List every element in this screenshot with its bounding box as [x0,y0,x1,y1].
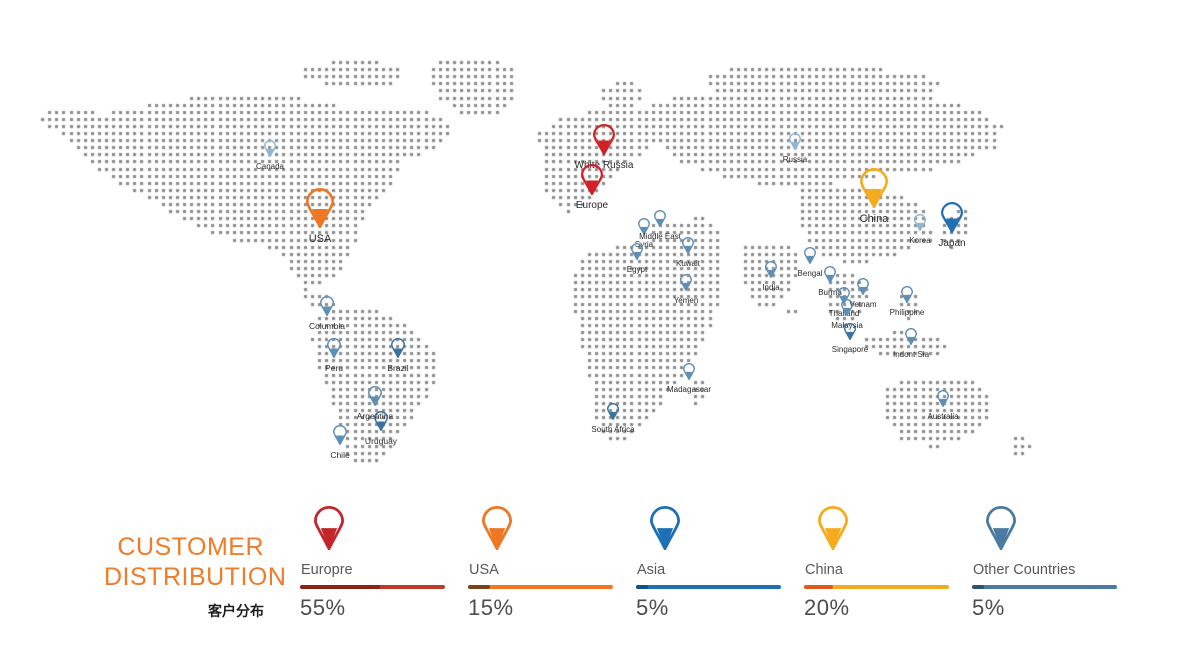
location-pin-icon [901,286,913,308]
page-title-line1: CUSTOMER [104,532,264,562]
location-pin-icon [941,202,963,238]
map-marker-peru[interactable]: Peru [327,338,341,363]
location-pin-icon [631,243,643,265]
map-marker-label: Yemen [674,297,699,305]
map-marker-label: South Africa [591,426,634,434]
infographic-root: CanadaUSAColumbiaPeruBrazilArgentinaUrug… [0,0,1180,663]
map-marker-label: Japan [938,239,965,249]
legend-item-percentage: 5% [636,595,801,621]
map-marker-label: Singapore [832,346,868,354]
map-marker-label: Russia [783,156,807,164]
map-marker-label: Uruguay [365,437,397,446]
world-dot-map-canvas [0,0,1180,500]
map-marker-chile[interactable]: Chile [333,425,347,450]
map-marker-label: Columbia [309,322,345,331]
legend-item-label: Europre [301,562,465,578]
location-pin-icon [607,403,619,425]
map-marker-label: China [860,214,889,225]
map-marker-korea[interactable]: Korea [914,214,926,236]
map-marker-columbia[interactable]: Columbia [320,296,334,321]
location-pin-icon [654,210,666,232]
map-marker-brazil[interactable]: Brazil [391,338,405,363]
legend-item-label: Other Countries [973,562,1137,578]
map-marker-label: Egypt [627,266,647,274]
location-pin-icon [841,299,853,321]
map-marker-burma[interactable]: Burma [824,266,836,288]
map-marker-label: Peru [325,364,343,373]
legend-item-percentage: 20% [804,595,969,621]
legend-item-bar [468,585,613,589]
map-marker-australia[interactable]: Australia [937,390,949,412]
location-pin-icon [804,506,969,558]
legend-item-bar-fill [300,585,380,589]
location-pin-icon [765,261,777,283]
page-title-line2: DISTRIBUTION [104,562,264,592]
location-pin-icon [789,133,801,155]
legend-item-label: USA [469,562,633,578]
map-marker-uruguay[interactable]: Uruguay [374,411,388,436]
legend-item-bar-fill [804,585,833,589]
location-pin-icon [468,506,633,558]
map-marker-bengal[interactable]: Bengal [804,247,816,269]
location-pin-icon [391,338,405,363]
legend-item-asia[interactable]: Asia5% [636,506,801,621]
legend-item-china[interactable]: China20% [804,506,969,621]
world-map: CanadaUSAColumbiaPeruBrazilArgentinaUrug… [0,0,1180,500]
map-marker-malaysia[interactable]: Malaysia [841,299,853,321]
map-marker-label: Kuwait [676,260,700,268]
legend-item-bar [972,585,1117,589]
location-pin-icon [368,386,382,411]
map-marker-white-russia[interactable]: White Russia [593,124,615,160]
map-marker-label: Bengal [798,270,823,278]
map-marker-philippine[interactable]: Philippine [901,286,913,308]
map-marker-yemen[interactable]: Yemen [680,274,692,296]
location-pin-icon [914,214,926,236]
legend-item-percentage: 55% [300,595,465,621]
map-marker-label: Middle East [639,233,681,241]
map-marker-russia[interactable]: Russia [789,133,801,155]
legend-item-bar [300,585,445,589]
map-marker-label: Australia [927,413,958,421]
location-pin-icon [636,506,801,558]
location-pin-icon [683,363,695,385]
legend-item-label: China [805,562,969,578]
map-marker-japan[interactable]: Japan [941,202,963,238]
map-marker-label: Madagascar [667,386,711,394]
map-marker-europe[interactable]: Europe [581,164,603,200]
map-marker-label: Indont Sia [893,351,929,359]
map-marker-singapore[interactable]: Singapore [844,323,856,345]
legend-item-europre[interactable]: Europre55% [300,506,465,621]
location-pin-icon [824,266,836,288]
map-marker-south-africa[interactable]: South Africa [607,403,619,425]
map-marker-label: Korea [909,237,930,245]
location-pin-icon [857,278,869,300]
location-pin-icon [374,411,388,436]
legend-panel: CUSTOMER DISTRIBUTION 客户分布 Europre55%USA… [0,500,1180,663]
location-pin-icon [264,140,276,162]
map-marker-label: Chile [330,451,349,460]
location-pin-icon [937,390,949,412]
location-pin-icon [581,164,603,200]
location-pin-icon [682,237,694,259]
map-marker-label: India [762,284,779,292]
location-pin-icon [680,274,692,296]
map-marker-kuwait[interactable]: Kuwait [682,237,694,259]
map-marker-label: Canada [256,163,284,171]
legend-item-percentage: 5% [972,595,1137,621]
location-pin-icon [860,168,888,213]
map-marker-vetnam[interactable]: Vetnam [857,278,869,300]
location-pin-icon [306,188,334,233]
legend-item-bar [804,585,949,589]
map-marker-india[interactable]: India [765,261,777,283]
location-pin-icon [905,328,917,350]
map-marker-madagascar[interactable]: Madagascar [683,363,695,385]
title-block: CUSTOMER DISTRIBUTION 客户分布 [104,532,264,621]
location-pin-icon [300,506,465,558]
legend-item-other-countries[interactable]: Other Countries5% [972,506,1137,621]
location-pin-icon [320,296,334,321]
map-marker-china[interactable]: China [860,168,888,213]
legend-item-bar [636,585,781,589]
location-pin-icon [972,506,1137,558]
location-pin-icon [327,338,341,363]
location-pin-icon [593,124,615,160]
map-marker-label: Brazil [387,364,408,373]
page-subtitle-chinese: 客户分布 [104,601,264,621]
legend-item-percentage: 15% [468,595,633,621]
location-pin-icon [804,247,816,269]
legend-item-bar-fill [636,585,648,589]
legend-item-bar-fill [972,585,984,589]
map-marker-label: Philippine [890,309,925,317]
map-marker-usa[interactable]: USA [306,188,334,233]
location-pin-icon [333,425,347,450]
map-marker-canada[interactable]: Canada [264,140,276,162]
map-marker-label: Europe [576,201,608,211]
legend-item-usa[interactable]: USA15% [468,506,633,621]
location-pin-icon [844,323,856,345]
legend-item-bar-fill [468,585,490,589]
map-marker-label: Vetnam [849,301,876,309]
legend-item-label: Asia [637,562,801,578]
map-marker-middle-east[interactable]: Middle East [654,210,666,232]
map-marker-label: USA [309,234,332,245]
map-marker-indont-sia[interactable]: Indont Sia [905,328,917,350]
map-marker-egypt[interactable]: Egypt [631,243,643,265]
map-marker-argentina[interactable]: Argentina [368,386,382,411]
